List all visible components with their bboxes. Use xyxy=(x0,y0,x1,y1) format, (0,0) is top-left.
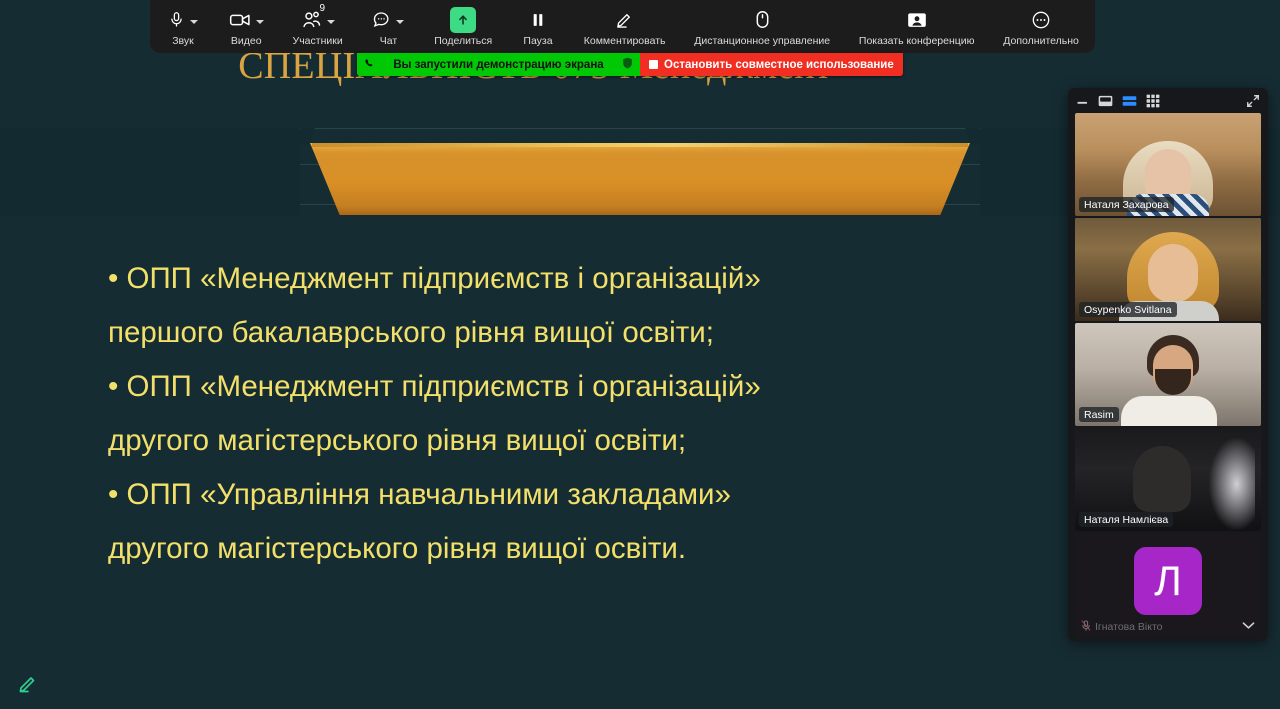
bullet-line-primary: ОПП «Управління навчальними закладами» xyxy=(108,468,928,522)
list-item: ОПП «Менеджмент підприємств і організаці… xyxy=(108,252,928,360)
video-feed-detail xyxy=(1148,244,1198,302)
strip-view-icon[interactable] xyxy=(1122,95,1137,107)
camera-icon[interactable] xyxy=(229,12,251,28)
toolbar-item-label: Чат xyxy=(380,35,397,47)
avatar-tile-footer: Ігнатова Вікто xyxy=(1075,617,1261,637)
chevron-down-icon[interactable] xyxy=(327,20,335,24)
chevron-down-icon[interactable] xyxy=(1242,621,1255,633)
toolbar-item-pause[interactable]: Пауза xyxy=(519,6,557,47)
avatar: Л xyxy=(1134,547,1202,615)
minimize-icon[interactable] xyxy=(1076,94,1089,107)
chevron-down-icon[interactable] xyxy=(396,20,404,24)
remote-control-icon[interactable] xyxy=(755,10,770,29)
video-tile[interactable]: Rasim xyxy=(1075,323,1261,426)
bullet-line-secondary: першого бакалаврського рівня вищої освіт… xyxy=(108,306,928,360)
pause-icon[interactable] xyxy=(529,11,547,29)
toolbar-item-label: Комментировать xyxy=(584,35,666,47)
video-feed-detail xyxy=(1133,446,1191,512)
show-meeting-icon[interactable] xyxy=(906,11,928,29)
video-thumbnail-panel: Наталя Захарова Osypenko Svitlana Rasim … xyxy=(1068,88,1268,641)
chevron-down-icon[interactable] xyxy=(256,20,264,24)
stop-sharing-label: Остановить совместное использование xyxy=(664,59,894,71)
participant-name: Osypenko Svitlana xyxy=(1079,302,1177,317)
share-screen-icon[interactable] xyxy=(450,7,476,33)
toolbar-item-video[interactable]: Видео xyxy=(227,6,266,47)
mic-muted-icon xyxy=(1081,620,1091,634)
toolbar-item-share[interactable]: Поделиться xyxy=(432,6,494,47)
slide-gold-banner-highlight xyxy=(312,143,968,147)
bullet-line-primary: ОПП «Менеджмент підприємств і організаці… xyxy=(108,252,928,306)
toolbar-item-label: Поделиться xyxy=(434,35,492,47)
list-item: ОПП «Управління навчальними закладами» д… xyxy=(108,468,928,576)
toolbar-item-label: Участники xyxy=(293,35,343,47)
toolbar-item-label: Показать конференцию xyxy=(859,35,975,47)
toolbar-item-label: Дополнительно xyxy=(1003,35,1079,47)
toolbar-item-annotate[interactable]: Комментировать xyxy=(582,6,668,47)
toolbar-item-more[interactable]: Дополнительно xyxy=(1001,6,1081,47)
screen-share-banner: Вы запустили демонстрацию экрана Останов… xyxy=(357,53,903,76)
stop-square-icon xyxy=(649,60,658,69)
gallery-view-icon[interactable] xyxy=(1146,94,1160,108)
video-tile[interactable]: Наталя Захарова xyxy=(1075,113,1261,216)
toolbar-item-participants[interactable]: 9 Участники xyxy=(291,6,345,47)
bullet-line-primary: ОПП «Менеджмент підприємств і організаці… xyxy=(108,360,928,414)
participant-name: Наталя Захарова xyxy=(1079,197,1174,212)
meeting-toolbar: Звук Видео 9 xyxy=(150,0,1095,53)
participant-name: Ігнатова Вікто xyxy=(1095,621,1238,633)
toolbar-item-audio[interactable]: Звук xyxy=(164,6,202,47)
slide-bullet-list: ОПП «Менеджмент підприємств і організаці… xyxy=(108,252,928,576)
phone-icon xyxy=(364,58,375,72)
stop-sharing-button[interactable]: Остановить совместное использование xyxy=(640,53,903,76)
participants-icon[interactable] xyxy=(301,10,322,29)
pencil-icon[interactable] xyxy=(16,671,40,695)
participant-name: Наталя Намлієва xyxy=(1079,512,1173,527)
participants-count-badge: 9 xyxy=(320,3,326,14)
bullet-line-secondary: другого магістерського рівня вищої освіт… xyxy=(108,414,928,468)
list-item: ОПП «Менеджмент підприємств і організаці… xyxy=(108,360,928,468)
video-tile-avatar[interactable]: Л Ігнатова Вікто xyxy=(1075,533,1261,637)
toolbar-item-chat[interactable]: Чат xyxy=(369,6,407,47)
participant-name: Rasim xyxy=(1079,407,1119,422)
chevron-down-icon[interactable] xyxy=(190,20,198,24)
video-tile[interactable]: Osypenko Svitlana xyxy=(1075,218,1261,321)
annotate-pencil-icon[interactable] xyxy=(615,10,634,29)
toolbar-item-label: Видео xyxy=(231,35,262,47)
more-options-icon[interactable] xyxy=(1031,10,1051,30)
video-feed-detail xyxy=(1209,438,1255,530)
toolbar-item-show-meeting[interactable]: Показать конференцию xyxy=(857,6,977,47)
video-feed-detail xyxy=(1121,396,1217,426)
toolbar-item-remote-control[interactable]: Дистанционное управление xyxy=(692,6,832,47)
video-tile[interactable]: Наталя Намлієва xyxy=(1075,428,1261,531)
video-panel-header xyxy=(1068,88,1268,113)
share-status-bar: Вы запустили демонстрацию экрана xyxy=(357,53,640,76)
toolbar-item-label: Пауза xyxy=(523,35,552,47)
toolbar-item-label: Звук xyxy=(172,35,194,47)
share-status-text: Вы запустили демонстрацию экрана xyxy=(384,59,613,71)
slide-decor-wing-left xyxy=(0,128,300,216)
toolbar-item-label: Дистанционное управление xyxy=(694,35,830,47)
microphone-icon[interactable] xyxy=(168,10,185,29)
bullet-line-secondary: другого магістерського рівня вищої освіт… xyxy=(108,522,928,576)
slide-gold-banner xyxy=(310,143,970,215)
chat-icon[interactable] xyxy=(372,10,391,29)
fullscreen-icon[interactable] xyxy=(1246,94,1260,108)
single-speaker-view-icon[interactable] xyxy=(1098,95,1113,107)
shield-icon[interactable] xyxy=(622,57,633,72)
